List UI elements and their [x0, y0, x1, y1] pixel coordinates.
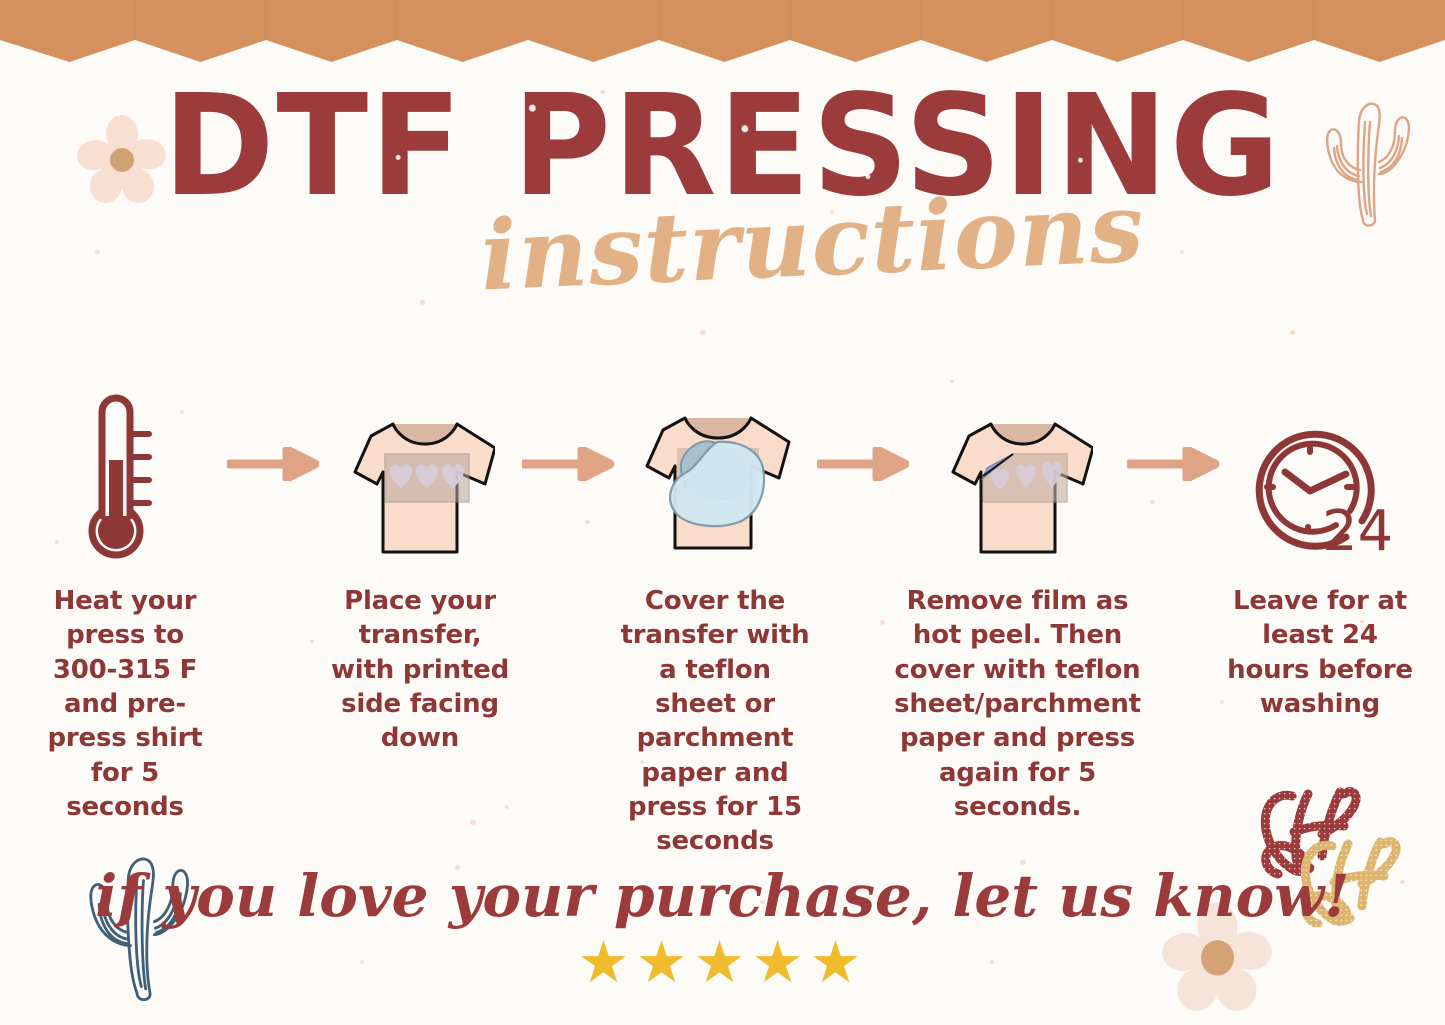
step-4-icon-wrap [943, 385, 1093, 560]
step-arrow-3 [810, 385, 915, 560]
steps-row: Heat your press to 300-315 F and pre-pre… [30, 385, 1415, 859]
arrow-right-icon [817, 447, 909, 481]
step-5: 24 Leave for at least 24 hours before wa… [1225, 385, 1415, 721]
tshirt-with-transfer-icon [345, 410, 495, 560]
footer-block: if you love your purchase, let us know! … [0, 862, 1445, 992]
step-3: Cover the transfer with a teflon sheet o… [620, 385, 810, 859]
step-2-icon-wrap [345, 385, 495, 560]
step-1: Heat your press to 300-315 F and pre-pre… [30, 385, 220, 824]
zigzag-top-border [0, 0, 1445, 62]
arrow-right-icon [522, 447, 614, 481]
arrow-right-icon [1127, 447, 1219, 481]
step-arrow-1 [220, 385, 325, 560]
instruction-card: DTF PRESSING instructions [0, 0, 1445, 1025]
arrow-right-icon [227, 447, 319, 481]
step-arrow-2 [515, 385, 620, 560]
star-rating: ★★★★★ [0, 934, 1445, 992]
title-block: DTF PRESSING instructions [0, 78, 1445, 302]
step-4: Remove film as hot peel. Then cover with… [915, 385, 1120, 824]
step-3-icon-wrap [635, 385, 795, 560]
step-2-text: Place your transfer, with printed side f… [325, 584, 515, 756]
step-2: Place your transfer, with printed side f… [325, 385, 515, 756]
clock-24-hours-icon: 24 [1250, 425, 1390, 560]
step-5-icon-wrap: 24 [1250, 385, 1390, 560]
step-3-text: Cover the transfer with a teflon sheet o… [620, 584, 810, 859]
step-4-text: Remove film as hot peel. Then cover with… [894, 584, 1141, 824]
tshirt-covered-with-teflon-sheet-icon [635, 402, 795, 560]
clock-24-label: 24 [1322, 499, 1390, 560]
step-5-text: Leave for at least 24 hours before washi… [1225, 584, 1415, 721]
step-1-icon-wrap [79, 385, 171, 560]
step-arrow-4 [1120, 385, 1225, 560]
thermometer-icon [79, 388, 171, 560]
footer-message: if you love your purchase, let us know! [0, 862, 1445, 930]
step-1-text: Heat your press to 300-315 F and pre-pre… [30, 584, 220, 824]
tshirt-film-peel-icon [943, 410, 1093, 560]
